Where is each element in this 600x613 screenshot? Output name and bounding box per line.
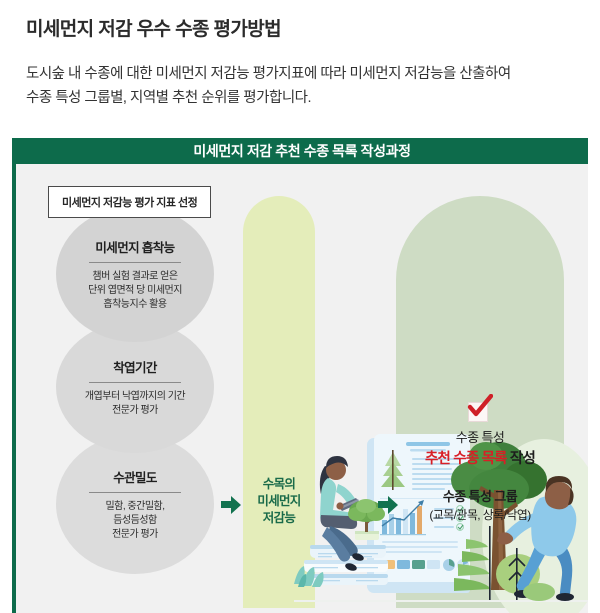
result-subtitle: 수종 특성 [396,428,564,447]
criteria-body-line-1: 개엽부터 낙엽까지의 기간 [85,390,185,404]
criteria-divider [89,492,181,493]
indicator-selection-box: 미세먼지 저감능 평가 지표 선정 [48,186,211,218]
result-text-block: 수종 특성 추천 수종 목록 작성 수종 특성 그룹 (교목/관목, 상록/낙엽… [396,428,564,524]
criteria-oval-crown-density: 수관밀도 밀함, 중간밀함, 듬성듬성함 전문가 평가 [56,434,214,574]
criteria-title: 미세먼지 흡착능 [95,237,174,256]
criteria-divider [89,262,181,263]
middle-label-line-3: 저감능 [243,510,315,527]
criteria-body-line-1: 밀함, 중간밀함, [105,500,164,514]
middle-label-line-2: 미세먼지 [243,493,315,510]
criteria-body: 챔버 실험 결과로 얻은 단위 엽면적 당 미세먼지 흡착능지수 활용 [88,270,182,312]
criteria-title: 착엽기간 [113,357,157,376]
result-headline-suffix: 작성 [507,451,535,467]
page-title: 미세먼지 저감 우수 수종 평가방법 [26,14,281,41]
criteria-body-line-2: 단위 엽면적 당 미세먼지 [88,284,182,298]
process-diagram-card: 미세먼지 저감 추천 수종 목록 작성과정 미세먼지 저감능 평가 지표 선정 … [12,138,588,613]
criteria-divider [89,382,181,383]
result-headline-highlight: 추천 수종 목록 [425,451,507,467]
page-description-line-1: 도시숲 내 수종에 대한 미세먼지 저감능 평가지표에 따라 미세먼지 저감능을… [26,62,582,86]
criteria-body: 밀함, 중간밀함, 듬성듬성함 전문가 평가 [105,500,164,542]
middle-panel-label: 수목의 미세먼지 저감능 [243,476,315,527]
criteria-oval-group: 미세먼지 흡착능 챔버 실험 결과로 얻은 단위 엽면적 당 미세먼지 흡착능지… [34,206,234,606]
criteria-oval-adsorption: 미세먼지 흡착능 챔버 실험 결과로 얻은 단위 엽면적 당 미세먼지 흡착능지… [56,206,214,342]
criteria-body-line-1: 챔버 실험 결과로 얻은 [88,270,182,284]
page-description-line-2: 수종 특성 그룹별, 지역별 추천 순위를 평가합니다. [26,86,582,110]
page-description: 도시숲 내 수종에 대한 미세먼지 저감능 평가지표에 따라 미세먼지 저감능을… [26,62,582,110]
result-headline: 추천 수종 목록 작성 [396,448,564,470]
criteria-body-line-3: 전문가 평가 [105,528,164,542]
criteria-body-line-2: 전문가 평가 [85,404,185,418]
card-header-title: 미세먼지 저감 추천 수종 목록 작성과정 [16,138,588,164]
red-checkmark-icon [468,398,490,420]
criteria-body-line-2: 듬성듬성함 [105,514,164,528]
middle-label-line-1: 수목의 [243,476,315,493]
criteria-body-line-3: 흡착능지수 활용 [88,298,182,312]
criteria-title: 수관밀도 [113,467,157,486]
result-group-detail: (교목/관목, 상록/낙엽) [396,506,564,524]
result-group-title: 수종 특성 그룹 [396,487,564,506]
criteria-body: 개엽부터 낙엽까지의 기간 전문가 평가 [85,390,185,418]
